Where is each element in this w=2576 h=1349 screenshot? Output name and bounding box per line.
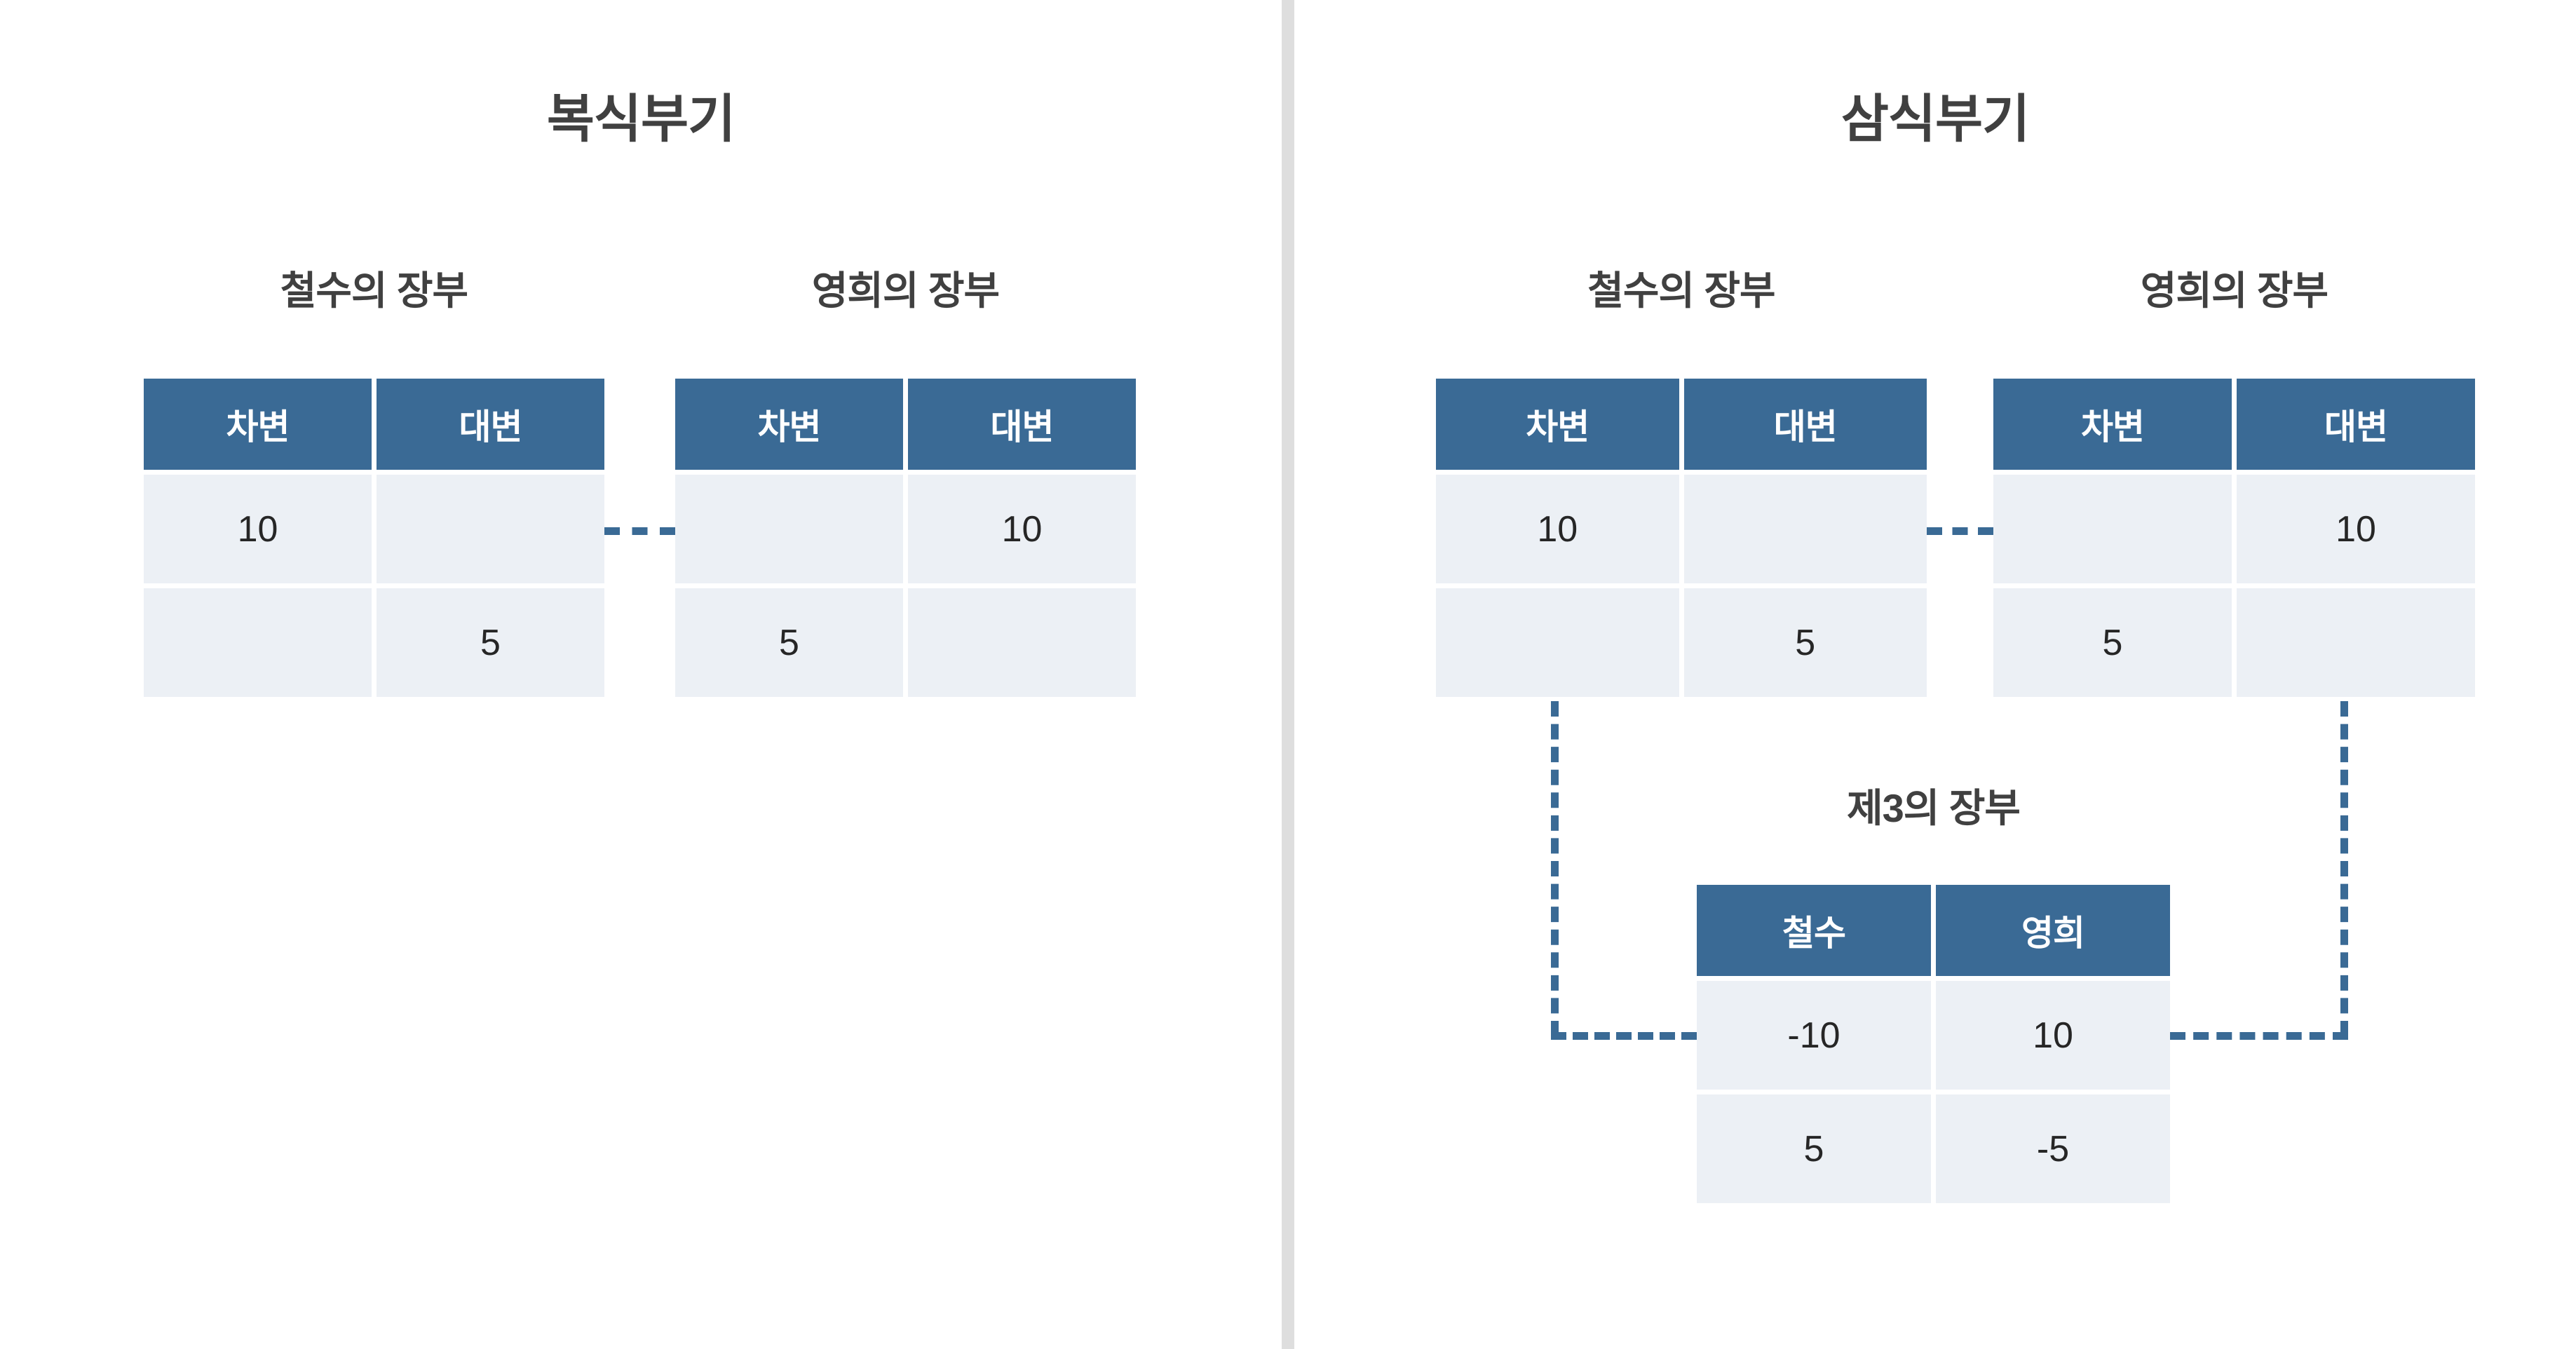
ledger-cell: 10 <box>1436 475 1679 583</box>
connector-left-horizontal <box>604 527 675 535</box>
ledger-cell <box>908 588 1136 697</box>
ledger-header-cell: 영희 <box>1936 885 2170 976</box>
ledger-caption-left-chulsoo: 철수의 장부 <box>144 259 604 316</box>
ledger-cell: 10 <box>1936 981 2170 1090</box>
ledger-header-cell: 철수 <box>1697 885 1931 976</box>
ledger-cell: 5 <box>1993 588 2232 697</box>
ledger-cell: -10 <box>1697 981 1931 1090</box>
ledger-cell <box>144 588 372 697</box>
ledger-header-cell: 차변 <box>1993 379 2232 470</box>
ledger-cell <box>1684 475 1927 583</box>
ledger-cell <box>2237 588 2475 697</box>
connector-third-left-horizontal <box>1551 1032 1697 1040</box>
ledger-cell: 5 <box>675 588 903 697</box>
diagram-canvas: 복식부기 철수의 장부 차변 대변 10 5 영희의 장부 차변 대변 10 5… <box>0 0 2576 1349</box>
connector-third-left-vertical <box>1551 701 1559 1036</box>
ledger-table-right-chulsoo: 차변 대변 10 5 <box>1436 379 1927 697</box>
panel-divider <box>1282 0 1294 1349</box>
ledger-header-cell: 차변 <box>675 379 903 470</box>
ledger-header-cell: 차변 <box>144 379 372 470</box>
ledger-header-cell: 차변 <box>1436 379 1679 470</box>
ledger-caption-right-chulsoo: 철수의 장부 <box>1436 259 1927 316</box>
ledger-cell: 5 <box>1697 1094 1931 1203</box>
ledger-cell: 5 <box>377 588 604 697</box>
panel-title-right: 삼식부기 <box>1294 77 2576 152</box>
ledger-cell: 10 <box>908 475 1136 583</box>
ledger-cell: 10 <box>144 475 372 583</box>
connector-right-horizontal <box>1927 527 1993 535</box>
ledger-cell <box>675 475 903 583</box>
ledger-table-third: 철수 영희 -10 10 5 -5 <box>1697 885 2170 1203</box>
ledger-cell: 5 <box>1684 588 1927 697</box>
ledger-cell <box>377 475 604 583</box>
ledger-cell <box>1436 588 1679 697</box>
connector-third-right-vertical <box>2340 701 2348 1036</box>
ledger-caption-right-younghee: 영희의 장부 <box>1993 259 2475 316</box>
ledger-cell: 10 <box>2237 475 2475 583</box>
ledger-caption-third: 제3의 장부 <box>1697 777 2170 834</box>
ledger-table-left-younghee: 차변 대변 10 5 <box>675 379 1136 697</box>
ledger-header-cell: 대변 <box>377 379 604 470</box>
ledger-header-cell: 대변 <box>908 379 1136 470</box>
ledger-table-right-younghee: 차변 대변 10 5 <box>1993 379 2475 697</box>
ledger-caption-left-younghee: 영희의 장부 <box>675 259 1136 316</box>
ledger-header-cell: 대변 <box>2237 379 2475 470</box>
ledger-header-cell: 대변 <box>1684 379 1927 470</box>
ledger-table-left-chulsoo: 차변 대변 10 5 <box>144 379 604 697</box>
panel-title-left: 복식부기 <box>0 77 1282 152</box>
ledger-cell: -5 <box>1936 1094 2170 1203</box>
connector-third-right-horizontal <box>2170 1032 2348 1040</box>
ledger-cell <box>1993 475 2232 583</box>
